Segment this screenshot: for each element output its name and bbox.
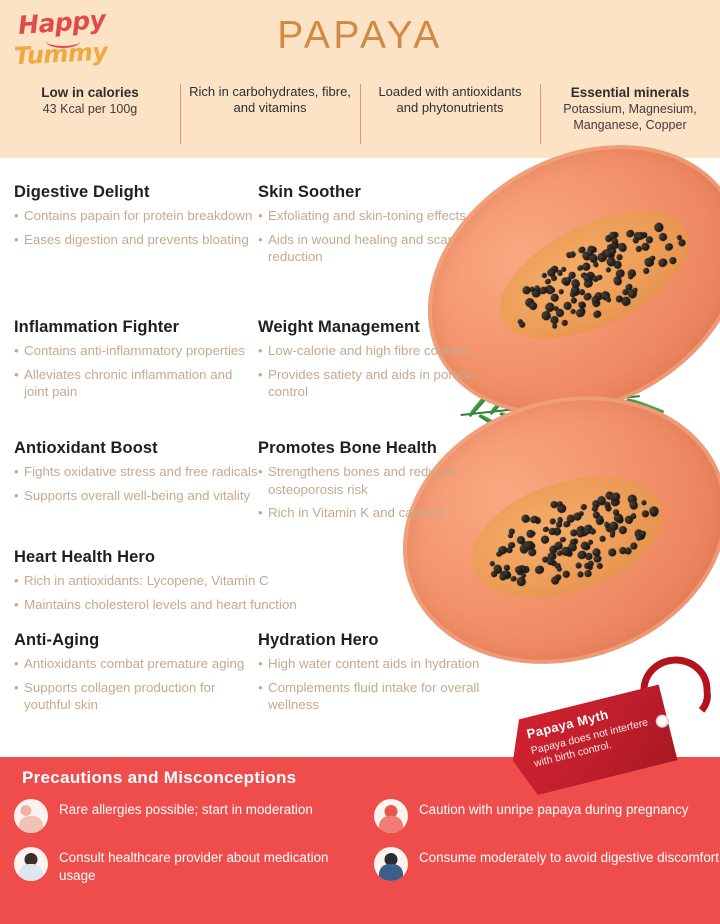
papaya-seed [592, 261, 600, 269]
doctor-icon [14, 847, 48, 881]
papaya-seed [565, 514, 575, 524]
papaya-seed [625, 229, 635, 239]
papaya-seed [641, 509, 650, 518]
papaya-seed [508, 532, 514, 538]
benefit-points: Contains papain for protein breakdown Ea… [14, 207, 252, 248]
benefit-heading: Promotes Bone Health [258, 438, 498, 458]
papaya-seed [577, 571, 585, 579]
papaya-seed [549, 559, 557, 567]
papaya-seed [627, 273, 635, 281]
papaya-seed [575, 561, 583, 569]
papaya-seed [587, 560, 595, 568]
benefit-points: High water content aids in hydration Com… [258, 655, 498, 714]
papaya-seed [567, 271, 576, 280]
benefit-point: Low-calorie and high fibre content [258, 342, 498, 360]
palm-blade [626, 396, 664, 415]
papaya-seed [677, 239, 686, 248]
papaya-seed [580, 272, 587, 279]
papaya-seed [581, 250, 592, 261]
precautions-title: Precautions and Misconceptions [22, 768, 296, 788]
benefit-heading: Anti-Aging [14, 630, 259, 650]
papaya-seed [599, 535, 607, 543]
papaya-seed [588, 539, 594, 545]
fact-sub: Potassium, Magnesium, Manganese, Copper [548, 101, 712, 133]
benefit-point: Alleviates chronic inflammation and join… [14, 366, 259, 401]
benefit-points: Rich in antioxidants: Lycopene, Vitamin … [14, 572, 454, 613]
papaya-seed [520, 541, 529, 550]
papaya-seed [521, 285, 532, 296]
papaya-seed [508, 541, 517, 550]
papaya-seed [517, 320, 526, 329]
papaya-seed [624, 515, 634, 525]
benefit-point: Supports collagen production for youthfu… [14, 679, 259, 714]
papaya-seed [556, 500, 563, 507]
papaya-seed [614, 268, 625, 279]
papaya-seed [609, 492, 619, 502]
papaya-seed [541, 535, 550, 544]
palm-blade [594, 374, 631, 404]
papaya-seed [603, 501, 611, 509]
papaya-seed [592, 309, 602, 319]
papaya-seed [566, 550, 574, 558]
papaya-seed [524, 297, 536, 309]
papaya-seed [596, 495, 607, 506]
benefit-heading: Heart Health Hero [14, 547, 454, 567]
papaya-seed [592, 547, 602, 557]
papaya-seed [516, 318, 523, 325]
fact-title: Low in calories [8, 84, 172, 101]
papaya-seed [577, 301, 584, 308]
benefit-heading: Hydration Hero [258, 630, 498, 650]
papaya-seed [541, 556, 549, 564]
papaya-seed [538, 285, 548, 295]
papaya-seed [621, 288, 629, 296]
papaya-seed [577, 246, 585, 254]
papaya-seed [534, 516, 542, 524]
papaya-seed [620, 296, 631, 307]
palm-blade [563, 403, 606, 428]
precaution-text: Consume moderately to avoid digestive di… [419, 847, 719, 867]
papaya-seed [514, 565, 523, 574]
benefits-section: Digestive Delight Contains papain for pr… [0, 158, 500, 750]
precautions-column-left: Rare allergies possible; start in modera… [0, 799, 360, 899]
palm-blade [573, 374, 611, 406]
papaya-seed [628, 500, 638, 510]
papaya-seed [519, 544, 530, 555]
papaya-seed [561, 277, 571, 287]
palm-blade [509, 373, 549, 413]
papaya-seed [668, 257, 677, 266]
fact-carbohydrates: Rich in carbohydrates, fibre, and vitami… [180, 84, 360, 146]
papaya-seed [591, 298, 602, 309]
papaya-seed [557, 517, 564, 524]
papaya-seed [595, 516, 604, 525]
papaya-seed [506, 546, 513, 553]
benefit-point: Fights oxidative stress and free radical… [14, 463, 258, 481]
benefit-point: Complements fluid intake for overall wel… [258, 679, 498, 714]
papaya-seed [587, 253, 599, 265]
papaya-seed [580, 503, 588, 511]
papaya-seed [564, 547, 571, 554]
benefit-point: Eases digestion and prevents bloating [14, 231, 252, 249]
papaya-seed [527, 301, 538, 312]
papaya-seed [570, 287, 580, 297]
papaya-seed [657, 232, 668, 243]
pregnancy-icon [374, 799, 408, 833]
papaya-seed [523, 540, 534, 551]
papaya-seed [550, 500, 559, 509]
papaya-seed [590, 295, 600, 305]
doctor-icon-body [19, 864, 43, 881]
benefit-point: High water content aids in hydration [258, 655, 498, 673]
papaya-seed [533, 285, 540, 292]
papaya-seed [549, 265, 559, 275]
pregnancy-icon-body [379, 816, 403, 833]
papaya-seed [549, 315, 560, 326]
papaya-seed [653, 222, 664, 233]
benefit-heading: Antioxidant Boost [14, 438, 258, 458]
papaya-seed [549, 544, 559, 554]
header-band: Happy Tummy PAPAYA Low in calories 43 Kc… [0, 0, 720, 158]
papaya-seed [577, 288, 586, 297]
papaya-seed [597, 515, 604, 522]
papaya-seed [542, 526, 549, 533]
papaya-seed [546, 557, 555, 566]
papaya-seed [543, 283, 555, 295]
papaya-seed [577, 550, 588, 561]
papaya-seed [548, 527, 556, 535]
papaya-seed [609, 240, 620, 251]
papaya-seed [584, 271, 595, 282]
benefit-block-weight-management: Weight Management Low-calorie and high f… [258, 317, 498, 407]
papaya-seed [576, 525, 586, 535]
precautions-column-right: Caution with unripe papaya during pregna… [360, 799, 720, 899]
papaya-seed [549, 293, 560, 304]
papaya-seed [615, 515, 624, 524]
precaution-text: Caution with unripe papaya during pregna… [419, 799, 688, 819]
papaya-seed [552, 527, 562, 537]
papaya-seed [565, 276, 573, 284]
fact-title: Loaded with antioxidants and phytonutrie… [368, 84, 532, 116]
papaya-seed [635, 530, 646, 541]
papaya-seed [627, 493, 638, 504]
papaya-seed [614, 294, 624, 304]
papaya-seed [525, 529, 536, 540]
papaya-seed [529, 542, 537, 550]
papaya-seed [585, 244, 596, 255]
benefit-heading: Digestive Delight [14, 182, 252, 202]
papaya-seed [612, 231, 619, 238]
papaya-seed [579, 307, 587, 315]
papaya-seed [678, 240, 685, 247]
papaya-seed [624, 283, 633, 292]
papaya-seed [596, 275, 603, 282]
papaya-seed [556, 270, 563, 277]
papaya-seed [625, 517, 633, 525]
papaya-seed [632, 231, 642, 241]
papaya-seed [631, 236, 639, 244]
benefit-block-hydration-hero: Hydration Hero High water content aids i… [258, 630, 498, 720]
papaya-seed [582, 278, 593, 289]
papaya-seed [616, 243, 624, 251]
papaya-seed [520, 572, 526, 578]
palm-blade [584, 401, 626, 424]
papaya-seed [583, 524, 594, 535]
page-title: PAPAYA [0, 14, 720, 58]
papaya-seed [596, 252, 608, 264]
papaya-seed [612, 275, 623, 286]
papaya-seed [603, 234, 613, 244]
papaya-seed [540, 272, 547, 279]
papaya-seed [607, 233, 614, 240]
benefit-heading: Inflammation Fighter [14, 317, 259, 337]
benefit-block-digestive-delight: Digestive Delight Contains papain for pr… [14, 182, 252, 254]
papaya-seed [634, 245, 642, 253]
papaya-seed [576, 529, 585, 538]
precaution-item: Caution with unripe papaya during pregna… [374, 799, 720, 833]
papaya-seed [560, 277, 569, 286]
papaya-seed [640, 232, 648, 240]
papaya-cavity [480, 186, 708, 366]
papaya-seed [600, 248, 610, 258]
papaya-seed [527, 541, 534, 548]
papaya-seed [555, 308, 565, 318]
papaya-seed [587, 563, 594, 570]
papaya-seed [540, 310, 551, 321]
papaya-seed [589, 528, 597, 536]
benefit-point: Contains papain for protein breakdown [14, 207, 252, 225]
papaya-seed [582, 273, 592, 283]
benefit-point: Rich in Vitamin K and calcium [258, 504, 498, 522]
papaya-seed [605, 522, 616, 533]
benefit-block-promotes-bone-health: Promotes Bone Health Strengthens bones a… [258, 438, 498, 528]
papaya-seed [657, 257, 669, 269]
papaya-seed [609, 529, 616, 536]
papaya-seed [610, 497, 621, 508]
palm-blade [552, 374, 591, 409]
papaya-seed [604, 266, 612, 274]
papaya-seed [562, 570, 570, 578]
papaya-seed [581, 262, 591, 272]
fact-minerals: Essential minerals Potassium, Magnesium,… [540, 84, 720, 146]
papaya-seed [572, 511, 582, 521]
palm-blade [499, 410, 547, 442]
fact-title: Rich in carbohydrates, fibre, and vitami… [188, 84, 352, 116]
papaya-seed [534, 564, 545, 575]
papaya-seed [569, 251, 576, 258]
papaya-seed [565, 550, 572, 557]
papaya-seed [529, 286, 536, 293]
benefit-block-antioxidant-boost: Antioxidant Boost Fights oxidative stres… [14, 438, 258, 510]
papaya-seed [556, 521, 563, 528]
papaya-seed [584, 569, 592, 577]
papaya-seed [502, 570, 512, 580]
papaya-seed [559, 536, 566, 543]
benefit-points: Strengthens bones and reduces osteoporos… [258, 463, 498, 522]
papaya-seed [569, 284, 580, 295]
papaya-seed [591, 505, 599, 513]
papaya-seed [586, 249, 594, 257]
infographic-page: Happy Tummy PAPAYA Low in calories 43 Kc… [0, 0, 720, 924]
papaya-seed [604, 504, 613, 513]
papaya-seed [605, 256, 617, 268]
papaya-seed [556, 566, 562, 572]
papaya-seed [634, 230, 645, 241]
papaya-seed [624, 546, 633, 555]
papaya-seed [583, 543, 591, 551]
papaya-seed [645, 257, 655, 267]
benefit-point: Supports overall well-being and vitality [14, 487, 258, 505]
papaya-seed [609, 532, 616, 539]
papaya-seed [593, 554, 602, 563]
palm-blade [520, 407, 566, 436]
papaya-seed [568, 291, 576, 299]
benefit-block-skin-soother: Skin Soother Exfoliating and skin-toning… [258, 182, 498, 272]
papaya-seed [556, 503, 567, 514]
benefit-point: Provides satiety and aids in portion con… [258, 366, 498, 401]
papaya-seed [631, 286, 638, 293]
papaya-seed [584, 529, 591, 536]
papaya-seed [530, 515, 539, 524]
papaya-seed [543, 278, 551, 286]
benefit-block-inflammation-fighter: Inflammation Fighter Contains anti-infla… [14, 317, 259, 407]
papaya-seed [603, 248, 614, 259]
papaya-seed [585, 553, 593, 561]
benefit-points: Low-calorie and high fibre content Provi… [258, 342, 498, 401]
papaya-seed [544, 302, 555, 313]
fact-sub: 43 Kcal per 100g [8, 101, 172, 117]
papaya-seed [560, 546, 571, 557]
papaya-seed [554, 573, 563, 582]
palm-blade [605, 398, 645, 419]
papaya-seed [590, 246, 597, 253]
papaya-seed [576, 264, 584, 272]
papaya-seed [626, 288, 638, 300]
papaya-seed [516, 568, 523, 575]
papaya-seed [502, 570, 510, 578]
papaya-seed [546, 267, 556, 277]
papaya-seed [516, 534, 526, 544]
papaya-seed [558, 289, 565, 296]
allergy-icon-head [20, 805, 31, 816]
papaya-seed [551, 323, 558, 330]
benefit-point: Aids in wound healing and scar reduction [258, 231, 498, 266]
stomach-icon-body [379, 864, 403, 881]
allergy-icon [14, 799, 48, 833]
papaya-seed [569, 278, 581, 290]
papaya-seed [610, 237, 619, 246]
papaya-seed [527, 548, 537, 558]
papaya-seed [649, 506, 660, 517]
precautions-grid: Rare allergies possible; start in modera… [0, 799, 720, 899]
papaya-seed [611, 492, 621, 502]
papaya-seed [554, 541, 564, 551]
stomach-icon [374, 847, 408, 881]
papaya-seed [569, 529, 578, 538]
papaya-seed [561, 300, 572, 311]
papaya-seed [516, 564, 527, 575]
papaya-seed [579, 301, 587, 309]
papaya-seed [561, 319, 569, 327]
papaya-seed [604, 294, 611, 301]
papaya-seed [648, 255, 656, 263]
papaya-seed [570, 297, 578, 305]
papaya-seed [591, 510, 600, 519]
benefit-point: Maintains cholesterol levels and heart f… [14, 596, 454, 614]
fact-antioxidants: Loaded with antioxidants and phytonutrie… [360, 84, 540, 146]
papaya-seed [552, 305, 559, 312]
papaya-seed [508, 527, 516, 535]
benefit-points: Antioxidants combat premature aging Supp… [14, 655, 259, 714]
benefit-heading: Skin Soother [258, 182, 498, 202]
papaya-seed [591, 275, 599, 283]
benefit-points: Exfoliating and skin-toning effects Aids… [258, 207, 498, 266]
papaya-seed [520, 514, 530, 524]
papaya-seed [648, 507, 658, 517]
papaya-seed [559, 266, 566, 273]
papaya-seed [643, 257, 654, 268]
papaya-seed [547, 286, 556, 295]
papaya-seed [569, 308, 576, 315]
papaya-seed [578, 510, 585, 517]
precaution-item: Consult healthcare provider about medica… [14, 847, 360, 885]
papaya-seed [613, 509, 620, 516]
papaya-seed [630, 513, 637, 520]
benefit-points: Contains anti-inflammatory properties Al… [14, 342, 259, 401]
precaution-item: Consume moderately to avoid digestive di… [374, 847, 720, 881]
papaya-seed [554, 562, 562, 570]
precaution-item: Rare allergies possible; start in modera… [14, 799, 360, 833]
papaya-seed [504, 564, 511, 571]
benefit-heading: Weight Management [258, 317, 498, 337]
papaya-seed [640, 241, 651, 252]
papaya-seed [633, 528, 644, 539]
papaya-seed [530, 530, 536, 536]
papaya-seed [611, 231, 619, 239]
papaya-seed [571, 287, 581, 297]
papaya-seed [568, 542, 578, 552]
papaya-seed [615, 253, 623, 261]
papaya-seed [613, 513, 624, 524]
benefit-block-anti-aging: Anti-Aging Antioxidants combat premature… [14, 630, 259, 720]
palm-blade [542, 405, 587, 432]
papaya-seed [571, 537, 579, 545]
papaya-seed [582, 292, 592, 302]
benefit-block-heart-health-hero: Heart Health Hero Rich in antioxidants: … [14, 547, 454, 619]
papaya-seed [675, 234, 682, 241]
papaya-seed [608, 231, 617, 240]
precaution-text: Rare allergies possible; start in modera… [59, 799, 313, 819]
benefit-point: Exfoliating and skin-toning effects [258, 207, 498, 225]
papaya-seed [510, 575, 517, 582]
papaya-seed [641, 499, 647, 505]
allergy-icon-body [19, 816, 43, 833]
papaya-seed [591, 499, 601, 509]
papaya-seed [616, 242, 627, 253]
papaya-seed [606, 250, 616, 260]
palm-blade [615, 374, 651, 402]
papaya-seed [550, 576, 560, 586]
precaution-text: Consult healthcare provider about medica… [59, 847, 360, 885]
benefit-point: Contains anti-inflammatory properties [14, 342, 259, 360]
papaya-seed [583, 563, 591, 571]
papaya-seed [580, 540, 591, 551]
papaya-seed [607, 247, 617, 257]
papaya-seed [550, 274, 558, 282]
fact-title: Essential minerals [548, 84, 712, 101]
papaya-seed [607, 547, 618, 558]
papaya-seed [570, 539, 577, 546]
